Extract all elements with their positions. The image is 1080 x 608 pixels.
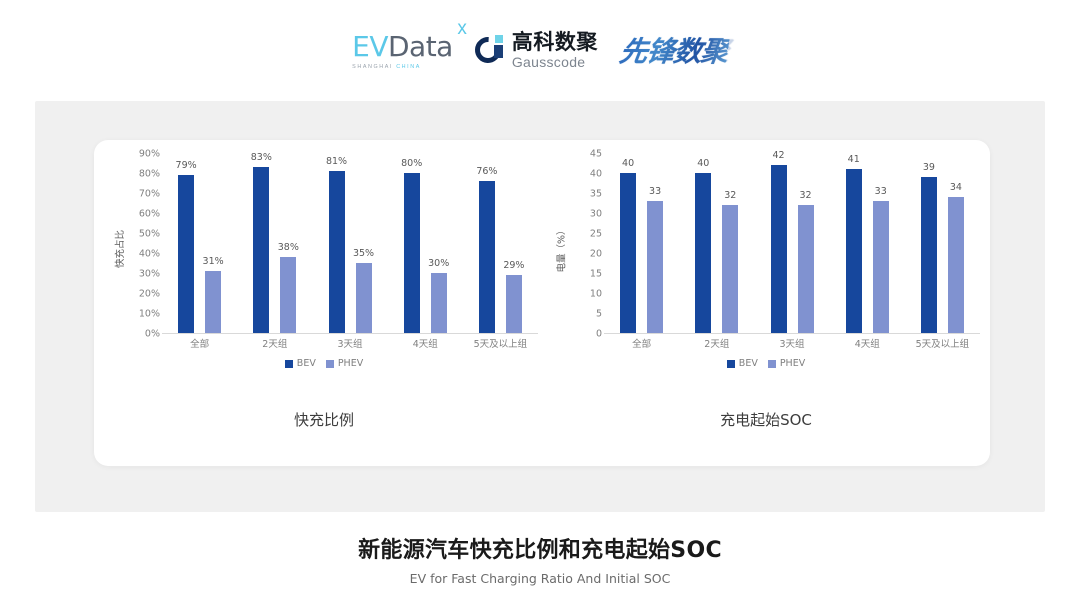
slide-root: EV Data x SHANGHAI CHINA 高科数聚 Gausscode … [0, 0, 1080, 608]
bar-phev[interactable]: 31% [205, 271, 221, 333]
x-tick-label: 5天及以上组 [463, 336, 538, 350]
x-axis-ticks-left: 全部2天组3天组4天组5天及以上组 [162, 336, 538, 354]
bar-bev[interactable]: 80% [404, 173, 420, 333]
bar-group: 81%35% [312, 154, 387, 333]
page-subtitle: EV for Fast Charging Ratio And Initial S… [0, 571, 1080, 586]
bar-bev[interactable]: 40 [695, 173, 711, 333]
chart-fast-charging-ratio: 快充占比 0%10%20%30%40%50%60%70%80%90% 79%31… [104, 154, 544, 454]
y-tick-label: 25 [590, 229, 602, 240]
bar-phev[interactable]: 32 [722, 205, 738, 333]
bar-value-label: 42 [772, 150, 784, 161]
bar-phev[interactable]: 38% [280, 257, 296, 333]
evdata-subtitle-country: CHINA [396, 64, 421, 70]
legend-label-phev: PHEV [780, 358, 805, 369]
y-tick-label: 80% [139, 169, 160, 180]
y-tick-label: 60% [139, 209, 160, 220]
evdata-x-icon: x [457, 19, 467, 38]
evdata-subtitle-city: SHANGHAI [352, 64, 396, 70]
legend-label-bev: BEV [739, 358, 758, 369]
y-tick-label: 20% [139, 289, 160, 300]
legend-label-phev: PHEV [338, 358, 363, 369]
y-tick-label: 20 [590, 249, 602, 260]
legend-item-bev: BEV [285, 358, 316, 369]
gausscode-logo-cn: 高科数聚 [512, 32, 598, 53]
evdata-logo-subtitle: SHANGHAI CHINA [352, 64, 421, 70]
legend-swatch-bev-icon [727, 360, 735, 368]
bar-groups-left: 79%31%83%38%81%35%80%30%76%29% [162, 154, 538, 334]
bar-bev[interactable]: 79% [178, 175, 194, 333]
x-axis-ticks-right: 全部2天组3天组4天组5天及以上组 [604, 336, 980, 354]
bar-value-label: 34 [950, 182, 962, 193]
bar-bev[interactable]: 81% [329, 171, 345, 333]
legend-right: BEV PHEV [546, 358, 986, 369]
bar-bev[interactable]: 41 [846, 169, 862, 333]
evdata-logo-ev-text: EV [352, 30, 388, 63]
bar-group: 80%30% [388, 154, 463, 333]
bar-bev[interactable]: 76% [479, 181, 495, 333]
bar-phev[interactable]: 30% [431, 273, 447, 333]
bar-group: 3934 [905, 154, 980, 333]
chart-caption-left: 快充比例 [104, 409, 544, 430]
bar-value-label: 29% [503, 260, 524, 271]
plot-area-right: 电量（%） 051015202530354045 403340324232413… [546, 154, 986, 369]
y-tick-label: 5 [596, 309, 602, 320]
x-tick-label: 2天组 [237, 336, 312, 350]
gausscode-logo: 高科数聚 Gausscode [475, 32, 598, 69]
bar-value-label: 35% [353, 248, 374, 259]
bar-phev[interactable]: 33 [873, 201, 889, 333]
x-tick-label: 4天组 [388, 336, 463, 350]
x-tick-label: 4天组 [830, 336, 905, 350]
legend-left: BEV PHEV [104, 358, 544, 369]
bar-value-label: 40 [622, 158, 634, 169]
bar-group: 4032 [679, 154, 754, 333]
bar-value-label: 83% [251, 152, 272, 163]
bar-value-label: 40 [697, 158, 709, 169]
page-title: 新能源汽车快充比例和充电起始SOC [0, 532, 1080, 564]
evdata-wordmark: EV Data x [352, 30, 453, 63]
x-tick-label: 全部 [604, 336, 679, 350]
gausscode-mark-icon [475, 35, 505, 65]
xianfeng-logo-cn: 先锋数聚 [617, 30, 731, 70]
x-tick-label: 3天组 [754, 336, 829, 350]
bar-value-label: 33 [649, 186, 661, 197]
y-tick-label: 45 [590, 149, 602, 160]
bar-bev[interactable]: 40 [620, 173, 636, 333]
gausscode-logo-en: Gausscode [512, 55, 598, 69]
chart-caption-right: 充电起始SOC [546, 409, 986, 430]
plot-area-left: 快充占比 0%10%20%30%40%50%60%70%80%90% 79%31… [104, 154, 544, 369]
evdata-logo: EV Data x SHANGHAI CHINA [352, 30, 453, 70]
legend-label-bev: BEV [297, 358, 316, 369]
legend-item-bev: BEV [727, 358, 758, 369]
y-tick-label: 90% [139, 149, 160, 160]
bar-bev[interactable]: 42 [771, 165, 787, 333]
y-tick-label: 10% [139, 309, 160, 320]
chart-initial-soc: 电量（%） 051015202530354045 403340324232413… [546, 154, 986, 454]
bar-group: 4232 [754, 154, 829, 333]
footer: 新能源汽车快充比例和充电起始SOC EV for Fast Charging R… [0, 532, 1080, 586]
y-tick-label: 30% [139, 269, 160, 280]
x-tick-label: 全部 [162, 336, 237, 350]
bar-value-label: 32 [799, 190, 811, 201]
bar-value-label: 76% [476, 166, 497, 177]
y-tick-label: 40% [139, 249, 160, 260]
y-tick-label: 0% [145, 329, 160, 340]
charts-card: 快充占比 0%10%20%30%40%50%60%70%80%90% 79%31… [94, 140, 990, 466]
x-tick-label: 5天及以上组 [905, 336, 980, 350]
legend-item-phev: PHEV [326, 358, 363, 369]
bar-value-label: 33 [875, 186, 887, 197]
y-tick-label: 15 [590, 269, 602, 280]
bar-bev[interactable]: 83% [253, 167, 269, 333]
bar-value-label: 31% [203, 256, 224, 267]
xianfeng-logo: 先锋数聚 [620, 30, 728, 70]
y-tick-label: 70% [139, 189, 160, 200]
bar-group: 76%29% [463, 154, 538, 333]
y-tick-label: 0 [596, 329, 602, 340]
y-axis-ticks-right: 051015202530354045 [566, 154, 602, 334]
bar-value-label: 80% [401, 158, 422, 169]
bar-phev[interactable]: 32 [798, 205, 814, 333]
bar-group: 79%31% [162, 154, 237, 333]
bar-value-label: 38% [278, 242, 299, 253]
bar-group: 4033 [604, 154, 679, 333]
bar-group: 4133 [830, 154, 905, 333]
bar-group: 83%38% [237, 154, 312, 333]
bar-phev[interactable]: 33 [647, 201, 663, 333]
y-tick-label: 10 [590, 289, 602, 300]
bar-groups-right: 40334032423241333934 [604, 154, 980, 334]
bar-value-label: 81% [326, 156, 347, 167]
x-tick-label: 3天组 [312, 336, 387, 350]
y-tick-label: 40 [590, 169, 602, 180]
bar-value-label: 79% [176, 160, 197, 171]
legend-swatch-bev-icon [285, 360, 293, 368]
legend-swatch-phev-icon [326, 360, 334, 368]
logo-bar: EV Data x SHANGHAI CHINA 高科数聚 Gausscode … [0, 24, 1080, 76]
bar-bev[interactable]: 39 [921, 177, 937, 333]
y-tick-label: 35 [590, 189, 602, 200]
bar-phev[interactable]: 35% [356, 263, 372, 333]
y-tick-label: 50% [139, 229, 160, 240]
bar-value-label: 41 [848, 154, 860, 165]
y-axis-ticks-left: 0%10%20%30%40%50%60%70%80%90% [124, 154, 160, 334]
bar-value-label: 39 [923, 162, 935, 173]
evdata-logo-data-text: Data [388, 30, 453, 63]
bar-value-label: 30% [428, 258, 449, 269]
bar-value-label: 32 [724, 190, 736, 201]
x-tick-label: 2天组 [679, 336, 754, 350]
bar-phev[interactable]: 29% [506, 275, 522, 333]
bar-phev[interactable]: 34 [948, 197, 964, 333]
legend-swatch-phev-icon [768, 360, 776, 368]
legend-item-phev: PHEV [768, 358, 805, 369]
y-tick-label: 30 [590, 209, 602, 220]
